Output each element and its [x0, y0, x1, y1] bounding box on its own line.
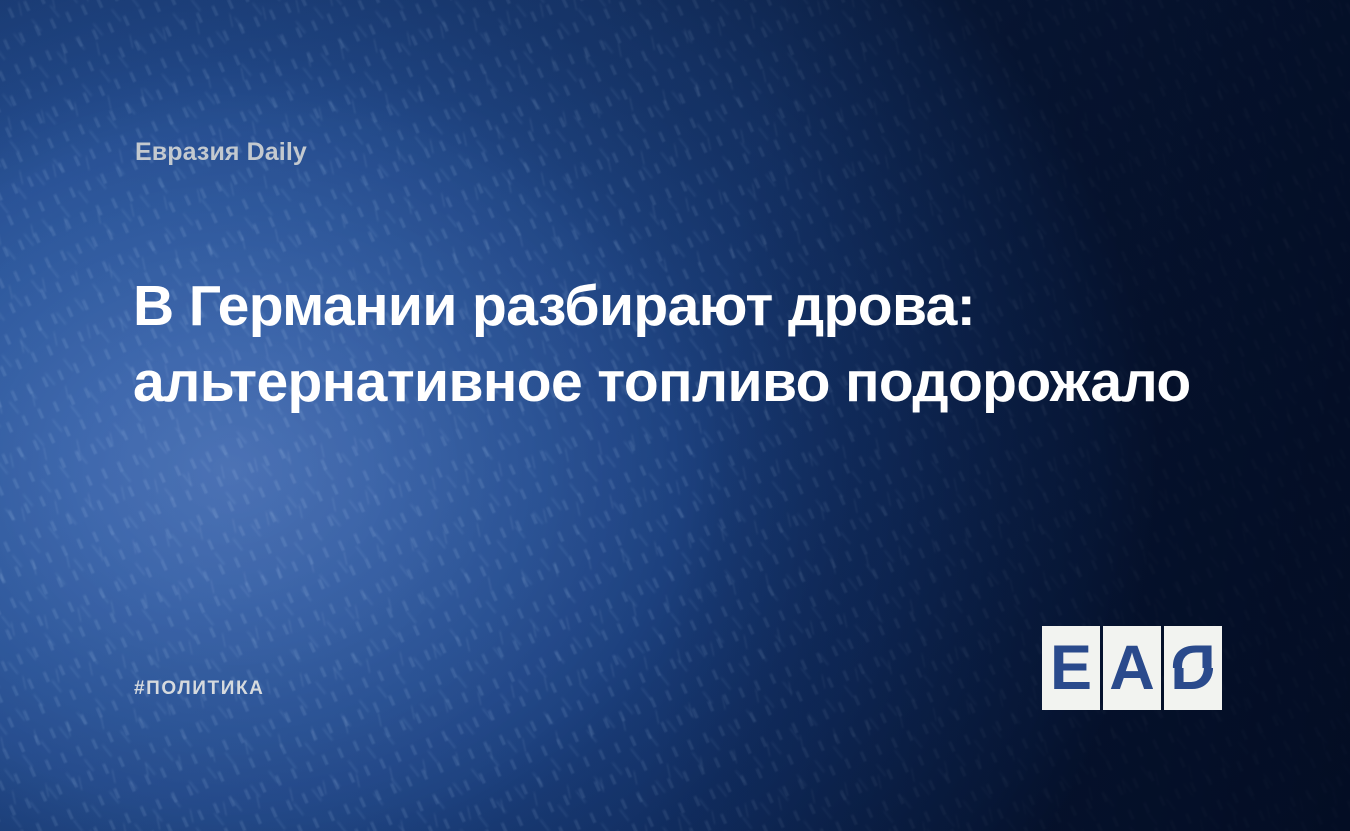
news-share-card: Евразия Daily В Германии разбирают дрова…: [0, 0, 1350, 831]
logo-tile-d: D D: [1164, 626, 1222, 710]
logo-letter-a: A: [1109, 637, 1155, 700]
site-name: Евразия Daily: [135, 138, 307, 167]
headline-line-2: альтернативное топливо подорожало: [133, 344, 1223, 420]
logo-letter-d-bottom: D: [1164, 668, 1222, 710]
headline: В Германии разбирают дрова: альтернативн…: [133, 268, 1223, 420]
card-content: Евразия Daily В Германии разбирают дрова…: [0, 0, 1350, 831]
logo-tile-a: A: [1103, 626, 1161, 710]
logo-tile-e: E: [1042, 626, 1100, 710]
logo-tile-d-bottom-half: D: [1164, 668, 1222, 710]
logo-tile-d-top-half: D: [1164, 626, 1222, 668]
headline-line-1: В Германии разбирают дрова:: [133, 268, 1223, 344]
logo-letter-e: E: [1050, 637, 1092, 700]
ead-logo[interactable]: E A D D: [1042, 626, 1222, 710]
rubric-tag[interactable]: #ПОЛИТИКА: [134, 678, 265, 700]
logo-letter-d-top: D: [1164, 626, 1222, 668]
